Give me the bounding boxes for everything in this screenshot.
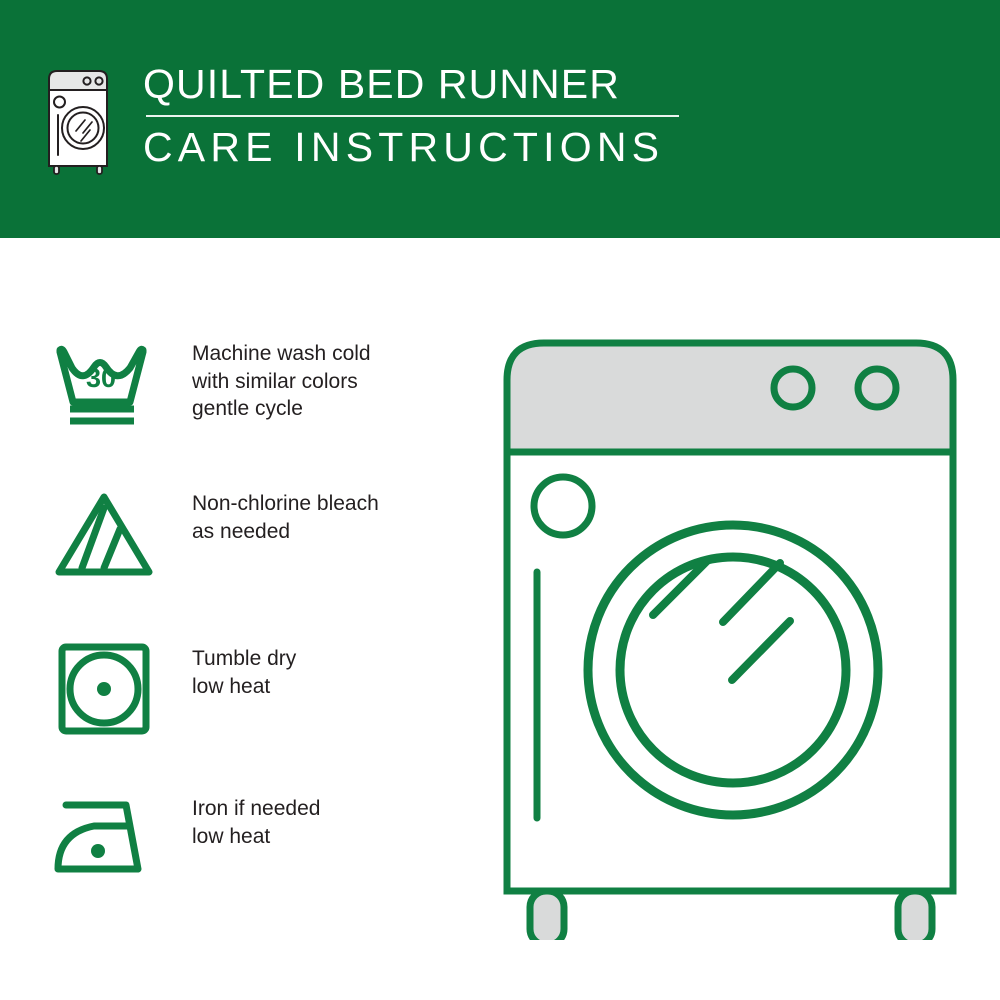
machine-leg-left (530, 891, 564, 940)
care-instruction-text: Non-chlorine bleach as needed (192, 488, 379, 545)
page-subtitle: CARE INSTRUCTIONS (143, 124, 679, 170)
care-instruction-text: Machine wash cold with similar colors ge… (192, 338, 371, 423)
wash-temperature-label: 30 (86, 363, 116, 393)
care-instruction-list: 30 Machine wash cold with similar colors… (0, 238, 480, 1000)
care-symbol-wrapper (50, 793, 160, 885)
care-instructions-page: QUILTED BED RUNNER CARE INSTRUCTIONS 30 (0, 0, 1000, 1000)
care-instruction-text: Tumble dry low heat (192, 643, 296, 700)
header-content: QUILTED BED RUNNER CARE INSTRUCTIONS (45, 63, 679, 177)
care-symbol-wrapper: 30 (50, 338, 160, 430)
list-item: Iron if needed low heat (50, 793, 320, 885)
list-item: Tumble dry low heat (50, 643, 296, 735)
non-chlorine-bleach-triangle-icon (50, 488, 154, 580)
machine-top-panel (507, 343, 953, 452)
care-instruction-text: Iron if needed low heat (192, 793, 320, 850)
page-title: QUILTED BED RUNNER (143, 61, 679, 107)
title-block: QUILTED BED RUNNER CARE INSTRUCTIONS (143, 61, 679, 170)
machine-body (507, 452, 953, 891)
washing-machine-icon (45, 65, 111, 177)
header-banner: QUILTED BED RUNNER CARE INSTRUCTIONS (0, 0, 1000, 238)
iron-low-heat-icon (50, 793, 154, 885)
front-load-washing-machine-illustration (480, 320, 980, 940)
title-divider (146, 115, 679, 117)
machine-leg-right (898, 891, 932, 940)
care-symbol-wrapper (50, 643, 160, 735)
list-item: 30 Machine wash cold with similar colors… (50, 338, 371, 430)
care-symbol-wrapper (50, 488, 160, 580)
tumble-dry-low-heat-icon (50, 643, 154, 735)
wash-basin-30-gentle-icon: 30 (50, 338, 154, 430)
list-item: Non-chlorine bleach as needed (50, 488, 379, 580)
